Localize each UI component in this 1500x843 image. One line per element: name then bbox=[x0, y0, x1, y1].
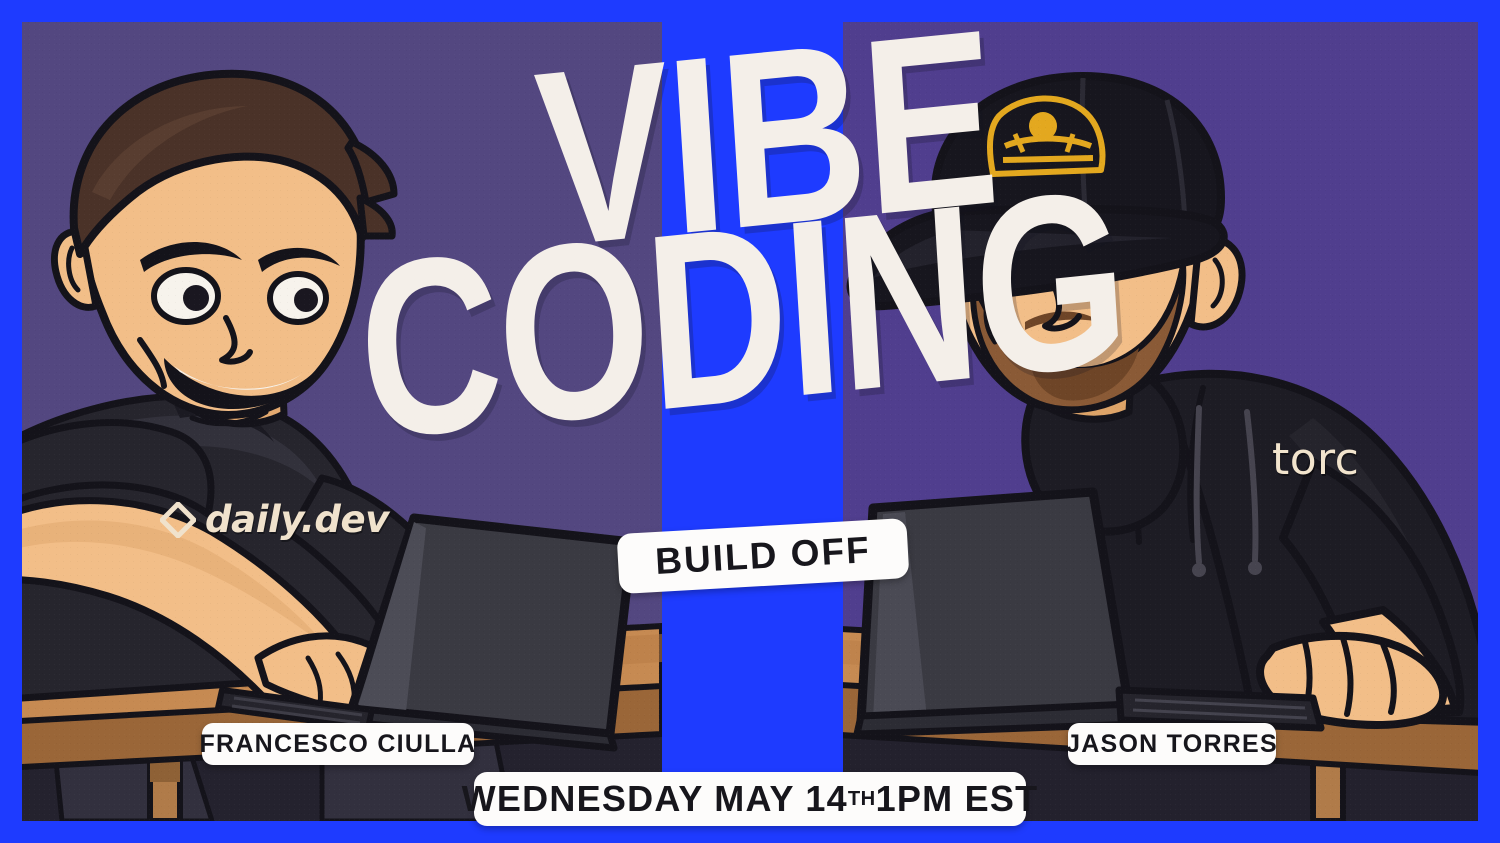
date-prefix: WEDNESDAY MAY 14 bbox=[462, 778, 848, 820]
name-badge-francesco: FRANCESCO CIULLA bbox=[202, 723, 474, 765]
left-panel bbox=[22, 22, 662, 821]
date-ordinal: TH bbox=[848, 788, 876, 811]
name-badge-jason: JASON TORRES bbox=[1068, 723, 1276, 765]
date-suffix: 1PM EST bbox=[876, 778, 1039, 820]
event-date-badge: WEDNESDAY MAY 14TH 1PM EST bbox=[474, 772, 1026, 826]
right-illustration bbox=[843, 22, 1478, 821]
cap-patch-icon bbox=[990, 98, 1103, 174]
left-illustration bbox=[22, 22, 662, 821]
right-panel bbox=[843, 22, 1478, 821]
center-blue-divider bbox=[662, 0, 843, 843]
poster-canvas: daily.dev bbox=[0, 0, 1500, 843]
